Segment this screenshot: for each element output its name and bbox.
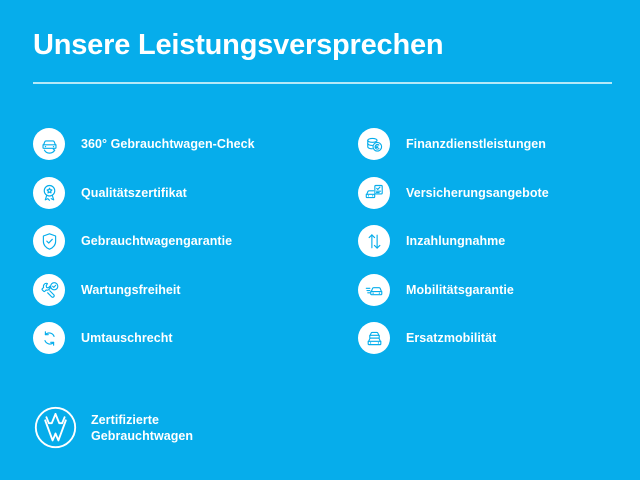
promise-label: 360° Gebrauchtwagen-Check: [81, 137, 255, 151]
brand-text-line2: Gebrauchtwagen: [91, 429, 193, 443]
award-rosette-icon: [33, 177, 65, 209]
two-cars-icon: [358, 322, 390, 354]
promise-item-wartungsfreiheit[interactable]: Wartungsfreiheit: [33, 274, 323, 306]
promise-item-inzahlungnahme[interactable]: Inzahlungnahme: [358, 225, 640, 257]
header: Unsere Leistungsversprechen: [33, 28, 613, 62]
brand-lockup: Zertifizierte Gebrauchtwagen: [33, 405, 193, 450]
brand-text: Zertifizierte Gebrauchtwagen: [91, 412, 193, 444]
promise-item-qualitaetszertifikat[interactable]: Qualitätszertifikat: [33, 177, 323, 209]
promise-item-mobilitaetsgarantie[interactable]: Mobilitätsgarantie: [358, 274, 640, 306]
promise-list-right: Finanzdienstleistungen Versicherungsange…: [358, 128, 640, 371]
promise-poster: Unsere Leistungsversprechen 360° Gebrauc…: [0, 0, 640, 480]
wrench-check-icon: [33, 274, 65, 306]
promise-label: Gebrauchtwagengarantie: [81, 234, 232, 248]
promise-label: Ersatzmobilität: [406, 331, 496, 345]
promise-item-gebrauchtwagengarantie[interactable]: Gebrauchtwagengarantie: [33, 225, 323, 257]
brand-text-line1: Zertifizierte: [91, 413, 159, 427]
car-check-icon: [33, 128, 65, 160]
promise-item-versicherungsangebote[interactable]: Versicherungsangebote: [358, 177, 640, 209]
promise-list-left: 360° Gebrauchtwagen-Check Qualitätszerti…: [33, 128, 323, 371]
car-document-icon: [358, 177, 390, 209]
promise-item-finanzdienstleistungen[interactable]: Finanzdienstleistungen: [358, 128, 640, 160]
page-title: Unsere Leistungsversprechen: [33, 28, 613, 62]
promise-label: Finanzdienstleistungen: [406, 137, 546, 151]
promise-label: Versicherungsangebote: [406, 186, 549, 200]
car-speed-icon: [358, 274, 390, 306]
promise-item-umtauschrecht[interactable]: Umtauschrecht: [33, 322, 323, 354]
promise-label: Mobilitätsgarantie: [406, 283, 514, 297]
promise-label: Wartungsfreiheit: [81, 283, 181, 297]
promise-label: Qualitätszertifikat: [81, 186, 187, 200]
promise-label: Umtauschrecht: [81, 331, 173, 345]
shield-check-icon: [33, 225, 65, 257]
exchange-arrows-icon: [33, 322, 65, 354]
promise-item-ersatzmobilitaet[interactable]: Ersatzmobilität: [358, 322, 640, 354]
promise-item-gebrauchtwagen-check[interactable]: 360° Gebrauchtwagen-Check: [33, 128, 323, 160]
promise-label: Inzahlungnahme: [406, 234, 505, 248]
arrows-up-down-icon: [358, 225, 390, 257]
vw-logo-icon: [33, 405, 78, 450]
title-divider: [33, 82, 612, 84]
coins-euro-icon: [358, 128, 390, 160]
